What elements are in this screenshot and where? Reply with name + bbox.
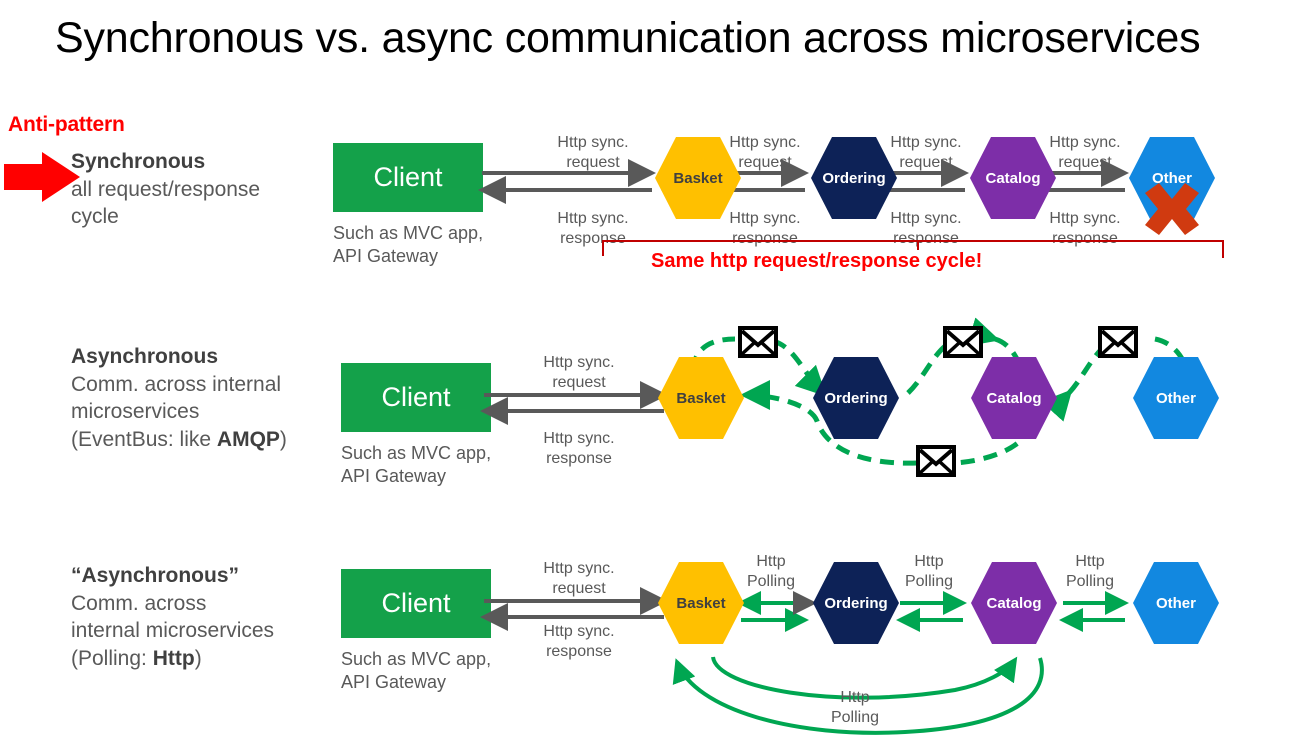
row1-link-label-client: Http sync. request	[533, 133, 653, 173]
row-body-line-2: internal microservices	[71, 619, 274, 642]
hexagon-other-row3: Other	[1133, 562, 1219, 644]
hexagon-label: Ordering	[824, 595, 887, 612]
anti-pattern-badge: Anti-pattern	[8, 113, 125, 137]
client-caption-row3: Such as MVC app, API Gateway	[341, 648, 531, 693]
label-text: request	[1058, 154, 1111, 171]
client-caption-line-2: API Gateway	[333, 246, 438, 266]
row-heading-synchronous: Synchronous	[71, 148, 321, 176]
hexagon-other-row2: Other	[1133, 357, 1219, 439]
hexagon-ordering-row2: Ordering	[813, 357, 899, 439]
hexagon-basket-row3: Basket	[658, 562, 744, 644]
hexagon-label: Ordering	[822, 170, 885, 187]
row-label-polling: “Asynchronous” Comm. across internal mic…	[71, 562, 333, 673]
hexagon-ordering-row3: Ordering	[813, 562, 899, 644]
anti-pattern-label: Anti-pattern	[8, 113, 125, 136]
client-label: Client	[373, 162, 442, 193]
label-text: Http	[840, 689, 869, 706]
label-text: Http sync.	[543, 430, 614, 447]
label-text: response	[546, 450, 612, 467]
hexagon-label: Catalog	[985, 170, 1040, 187]
label-text: request	[899, 154, 952, 171]
client-caption-line-1: Such as MVC app,	[341, 443, 491, 463]
client-caption-line-1: Such as MVC app,	[333, 223, 483, 243]
label-text: Http sync.	[1049, 210, 1120, 227]
label-text: request	[566, 154, 619, 171]
client-label: Client	[381, 588, 450, 619]
hexagon-label: Catalog	[986, 390, 1041, 407]
envelope-icon-2	[943, 326, 983, 360]
row-body-line-1: Comm. across internal	[71, 373, 281, 396]
label-text: request	[738, 154, 791, 171]
client-box-row1: Client	[333, 143, 483, 212]
row-heading-polling: “Asynchronous”	[71, 562, 333, 590]
row-body-line-2: cycle	[71, 205, 119, 228]
envelope-icon-4	[916, 445, 956, 479]
hexagon-catalog-row1: Catalog	[970, 137, 1056, 219]
client-caption-line-1: Such as MVC app,	[341, 649, 491, 669]
hexagon-label: Basket	[676, 595, 725, 612]
label-text: Http sync.	[890, 134, 961, 151]
label-text: Http sync.	[1049, 134, 1120, 151]
hexagon-label: Ordering	[824, 390, 887, 407]
hexagon-label: Catalog	[986, 595, 1041, 612]
row-label-asynchronous: Asynchronous Comm. across internal micro…	[71, 343, 333, 454]
label-text: Http sync.	[557, 210, 628, 227]
row-heading-asynchronous: Asynchronous	[71, 343, 333, 371]
hexagon-label: Basket	[676, 390, 725, 407]
hexagon-ordering-row1: Ordering	[811, 137, 897, 219]
client-label: Client	[381, 382, 450, 413]
row3-loop-label: Http Polling	[800, 688, 910, 728]
note-text: Same http request/response cycle!	[651, 250, 982, 272]
label-text: response	[546, 643, 612, 660]
envelope-icon-1	[738, 326, 778, 360]
label-text: Http sync.	[543, 560, 614, 577]
hexagon-catalog-row2: Catalog	[971, 357, 1057, 439]
row-body-bold: Http	[153, 647, 195, 670]
row2-link-label-client-resp: Http sync. response	[519, 429, 639, 469]
client-caption-line-2: API Gateway	[341, 466, 446, 486]
row-body-bold: AMQP	[217, 428, 280, 451]
row-label-synchronous: Synchronous all request/response cycle	[71, 148, 321, 231]
row-body-line-1: Comm. across	[71, 592, 206, 615]
hexagon-label: Other	[1156, 595, 1196, 612]
hexagon-label: Basket	[673, 170, 722, 187]
label-text: Http sync.	[557, 134, 628, 151]
hexagon-basket-row1: Basket	[655, 137, 741, 219]
envelope-icon-3	[1098, 326, 1138, 360]
row-body-line-1: all request/response	[71, 178, 260, 201]
same-cycle-note: Same http request/response cycle!	[651, 250, 982, 273]
label-text: Polling	[831, 709, 879, 726]
client-box-row3: Client	[341, 569, 491, 638]
page-title: Synchronous vs. async communication acro…	[55, 14, 1255, 63]
hexagon-label: Other	[1156, 390, 1196, 407]
client-box-row2: Client	[341, 363, 491, 432]
row-body-line-3: (Polling: Http)	[71, 647, 202, 670]
client-caption-line-2: API Gateway	[341, 672, 446, 692]
label-text: Http sync.	[543, 354, 614, 371]
row-body-line-3: (EventBus: like AMQP)	[71, 428, 287, 451]
label-text: Http sync.	[890, 210, 961, 227]
hexagon-catalog-row3: Catalog	[971, 562, 1057, 644]
client-caption-row2: Such as MVC app, API Gateway	[341, 442, 531, 487]
row-body-line-2: microservices	[71, 400, 199, 423]
hexagon-basket-row2: Basket	[658, 357, 744, 439]
hexagon-other-row1: Other	[1129, 137, 1239, 247]
